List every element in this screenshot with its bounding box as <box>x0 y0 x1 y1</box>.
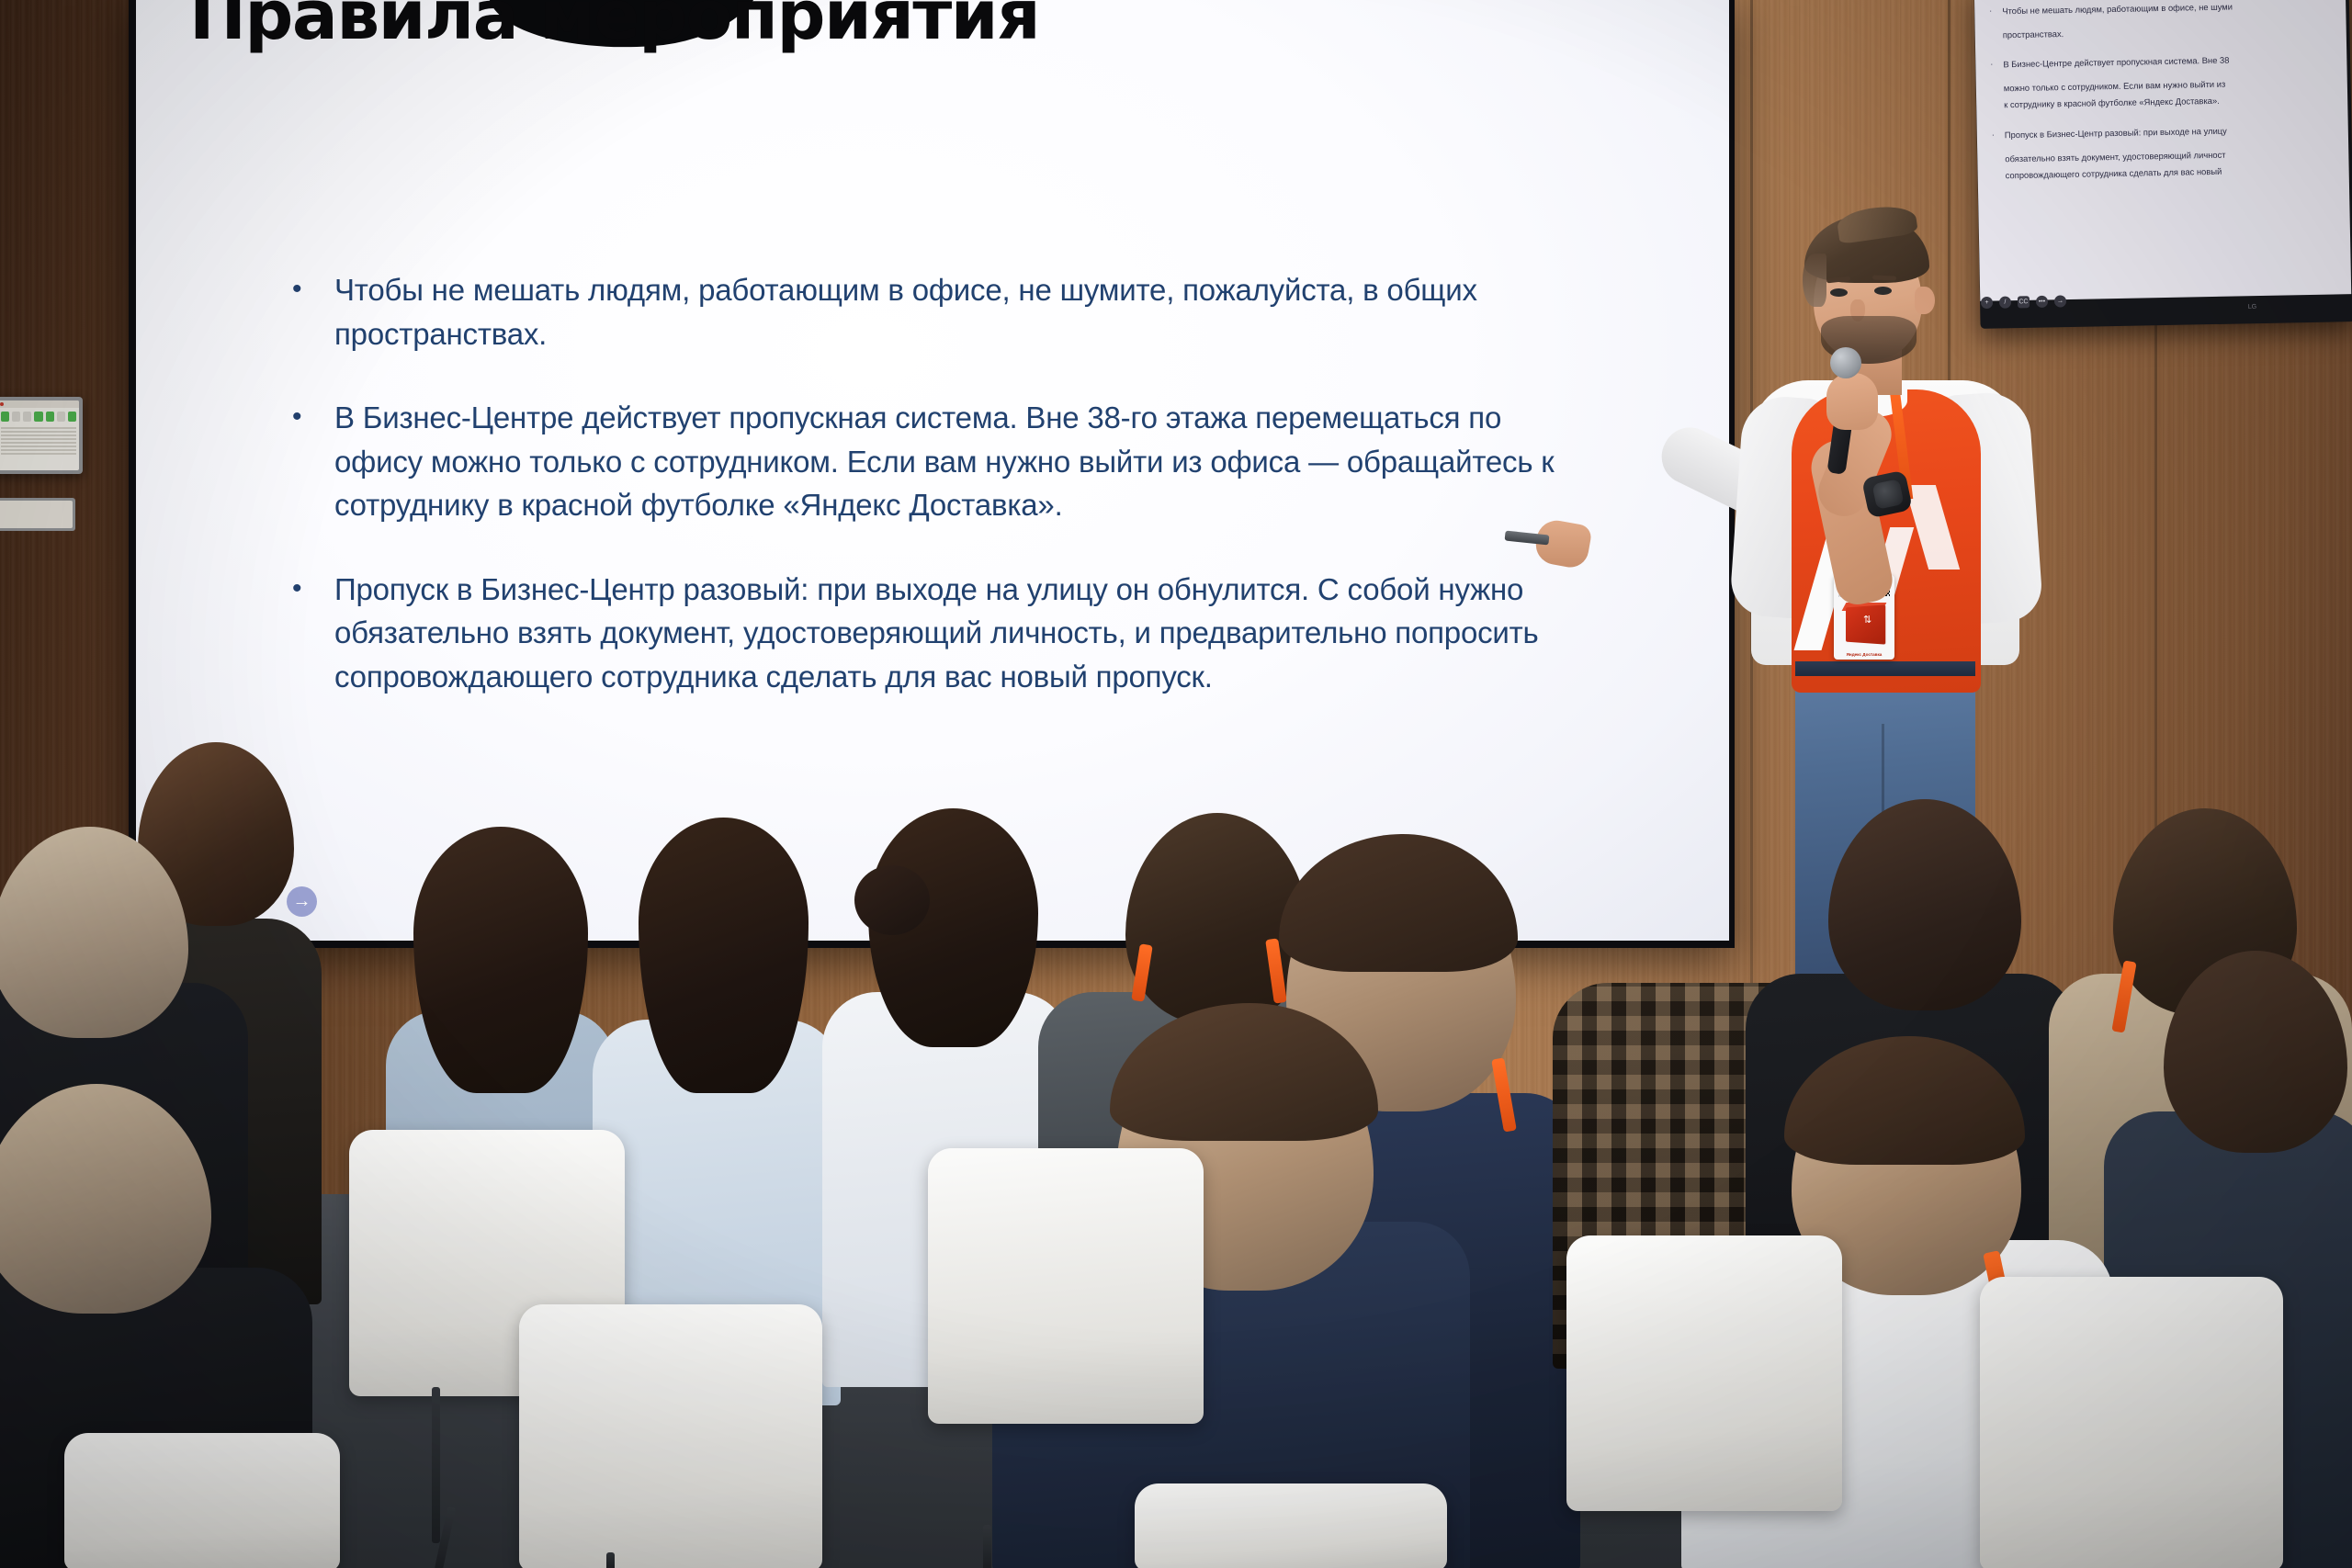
room-control-panel[interactable] <box>0 397 83 474</box>
attendee-head <box>413 827 588 1093</box>
bullet-marker-icon: · <box>1990 59 2003 72</box>
monitor-line-text: пространствах. <box>2003 28 2064 41</box>
monitor-line-text: обязательно взять документ, удостоверяющ… <box>2005 148 2225 165</box>
bullet-marker-icon: • <box>292 396 334 527</box>
monitor-line-text: сопровождающего сотрудника сделать для в… <box>2006 165 2222 183</box>
monitor-line: · Чтобы не мешать людям, работающим в оф… <box>1989 0 2351 18</box>
monitor-line: · В Бизнес-Центре действует пропускная с… <box>1990 51 2351 72</box>
chair-leg <box>432 1387 440 1543</box>
projection-screen[interactable]: Правила мероприятия • Чтобы не мешать лю… <box>136 0 1729 941</box>
control-button-row[interactable] <box>0 408 79 425</box>
bullet-marker-icon: • <box>292 568 334 699</box>
monitor-line: сопровождающего сотрудника сделать для в… <box>1993 162 2352 182</box>
presenter-eye <box>1874 287 1892 295</box>
chair-leg <box>606 1552 615 1568</box>
bullet-spacer <box>1991 99 2004 112</box>
slide-bullet-list: • Чтобы не мешать людям, работающим в оф… <box>292 268 1597 739</box>
control-titlebar <box>0 400 79 408</box>
presenter-hair-fade <box>1803 254 1826 307</box>
control-button[interactable] <box>12 412 20 422</box>
slide-bullet-item: • Чтобы не мешать людям, работающим в оф… <box>292 268 1597 355</box>
control-settings-list <box>0 425 79 458</box>
presenter-ear <box>1915 287 1935 314</box>
status-dot-icon <box>0 402 4 406</box>
chair[interactable] <box>1980 1277 2283 1568</box>
monitor-line: к сотруднику в красной футболке «Яндекс … <box>1991 92 2351 112</box>
chair[interactable] <box>64 1433 340 1568</box>
next-slide-arrow-icon[interactable]: → <box>2054 295 2066 307</box>
monitor-line-text: можно только с сотрудником. Если вам нуж… <box>2004 78 2226 96</box>
slide-bullet-text: В Бизнес-Центре действует пропускная сис… <box>334 396 1597 527</box>
control-button[interactable] <box>1 412 9 422</box>
monitor-line-text: Пропуск в Бизнес-Центр разовый: при выхо… <box>2005 124 2227 141</box>
control-button[interactable] <box>68 412 76 422</box>
slide-title: Правила мероприятия <box>189 0 1039 55</box>
control-button[interactable] <box>34 412 42 422</box>
chair[interactable] <box>1135 1483 1447 1568</box>
control-button[interactable] <box>46 412 54 422</box>
next-slide-arrow-icon[interactable]: → <box>287 886 317 917</box>
bullet-spacer <box>1991 83 2004 96</box>
bullet-spacer <box>1993 169 2006 182</box>
control-button[interactable] <box>23 412 31 422</box>
monitor-line-text: к сотруднику в красной футболке «Яндекс … <box>2004 95 2220 112</box>
slide-bullet-item: • Пропуск в Бизнес-Центр разовый: при вы… <box>292 568 1597 699</box>
arrows-icon: ⇅ <box>1863 615 1871 626</box>
presenter-belt <box>1795 661 1975 676</box>
chair-leg <box>983 1525 991 1568</box>
room-control-display[interactable] <box>0 400 79 470</box>
monitor-line: · Пропуск в Бизнес-Центр разовый: при вы… <box>1992 121 2352 141</box>
attendee-hair-bun <box>854 865 930 935</box>
monitor-line-text: Чтобы не мешать людям, работающим в офис… <box>2002 1 2233 18</box>
chair[interactable] <box>519 1304 822 1568</box>
presenter-eye <box>1830 288 1848 297</box>
monitor-slide-content: · Чтобы не мешать людям, работающим в оф… <box>1989 0 2351 193</box>
bullet-spacer <box>1990 28 2003 41</box>
attendee-head <box>639 818 808 1093</box>
chair[interactable] <box>1566 1235 1842 1511</box>
slide-bullet-item: • В Бизнес-Центре действует пропускная с… <box>292 396 1597 527</box>
bullet-marker-icon: · <box>1992 129 2005 141</box>
chair[interactable] <box>928 1148 1204 1424</box>
control-button[interactable] <box>57 412 65 422</box>
conference-room-scene: Правила мероприятия • Чтобы не мешать лю… <box>0 0 2352 1568</box>
room-control-panel-secondary[interactable] <box>0 498 75 531</box>
monitor-line-text: В Бизнес-Центре действует пропускная сис… <box>2003 54 2229 72</box>
slide-bullet-text: Чтобы не мешать людям, работающим в офис… <box>334 268 1597 355</box>
microphone-icon <box>1830 347 1861 378</box>
monitor-line: пространствах. <box>1990 21 2352 41</box>
slide-bullet-text: Пропуск в Бизнес-Центр разовый: при выхо… <box>334 568 1597 699</box>
bullet-marker-icon: · <box>1989 5 2002 17</box>
badge-brand-label: Яндекс Доставка <box>1834 652 1894 657</box>
presenter-right-hand <box>1826 373 1878 430</box>
bullet-spacer <box>1992 152 2005 165</box>
bullet-marker-icon: • <box>292 268 334 355</box>
